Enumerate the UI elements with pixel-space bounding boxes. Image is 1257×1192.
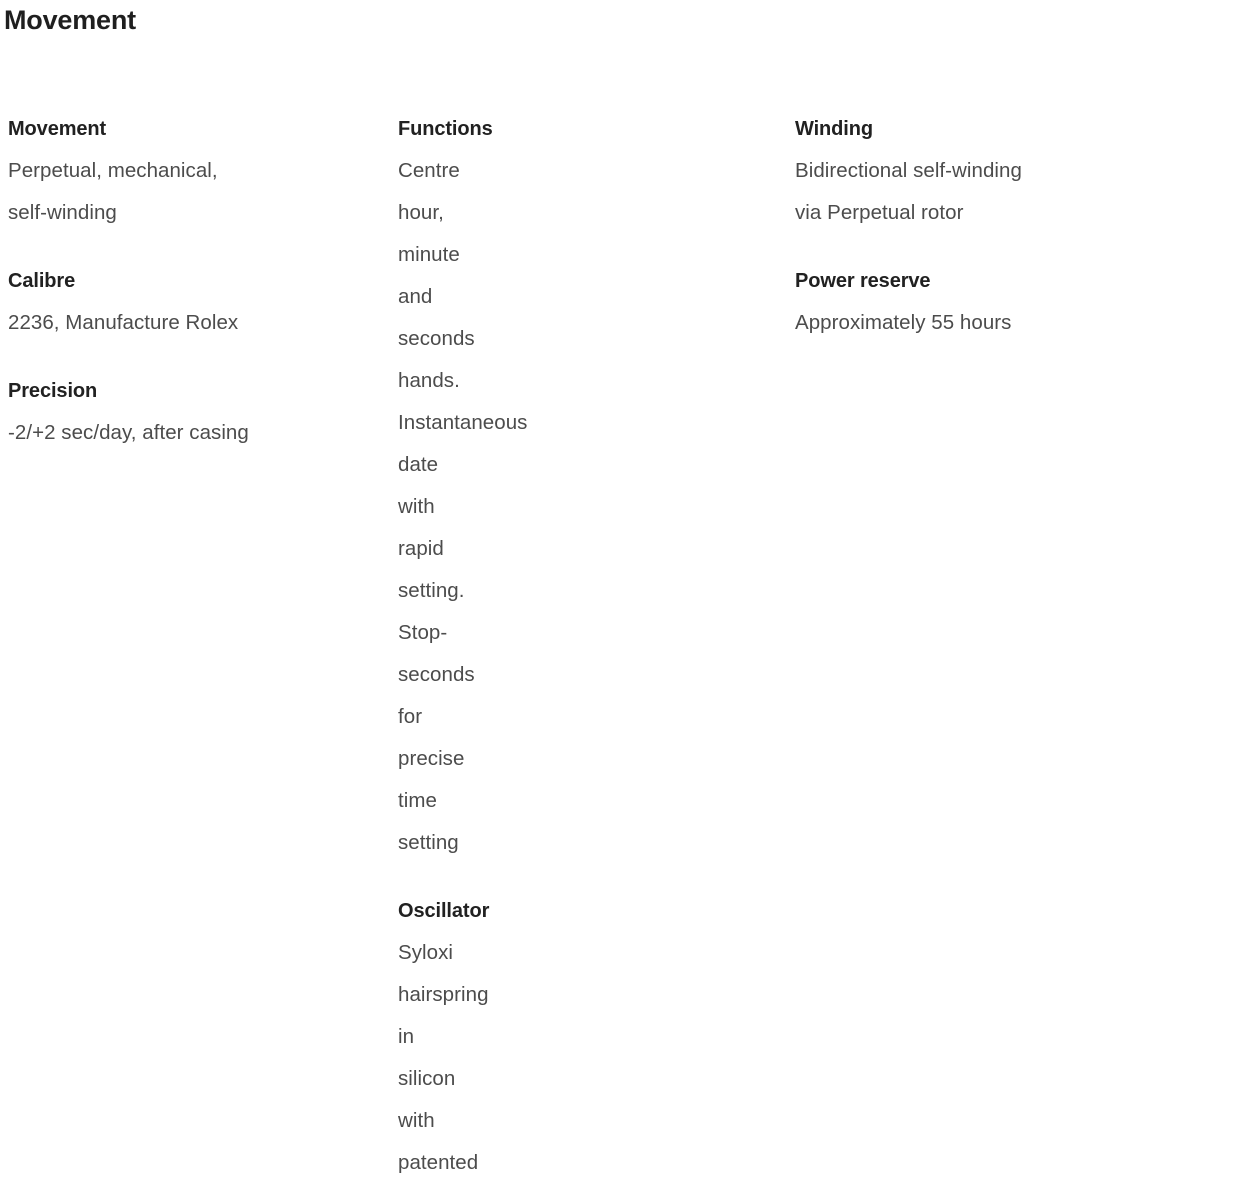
spec-block-power-reserve: Power reserve Approximately 55 hours — [795, 260, 1235, 344]
movement-specifications-page: Movement Movement Perpetual, mechanical,… — [0, 0, 1257, 596]
page-title: Movement — [4, 2, 136, 38]
spec-column-3: Winding Bidirectional self-winding via P… — [795, 108, 1235, 344]
spec-value-power-reserve: Approximately 55 hours — [795, 302, 1235, 344]
spec-column-2: Functions Centre hour, minute and second… — [0, 108, 398, 1192]
spec-value-winding: Bidirectional self-winding via Perpetual… — [795, 150, 1235, 234]
spec-block-winding: Winding Bidirectional self-winding via P… — [795, 108, 1235, 234]
spec-label-winding: Winding — [795, 108, 1235, 150]
spec-label-power-reserve: Power reserve — [795, 260, 1235, 302]
